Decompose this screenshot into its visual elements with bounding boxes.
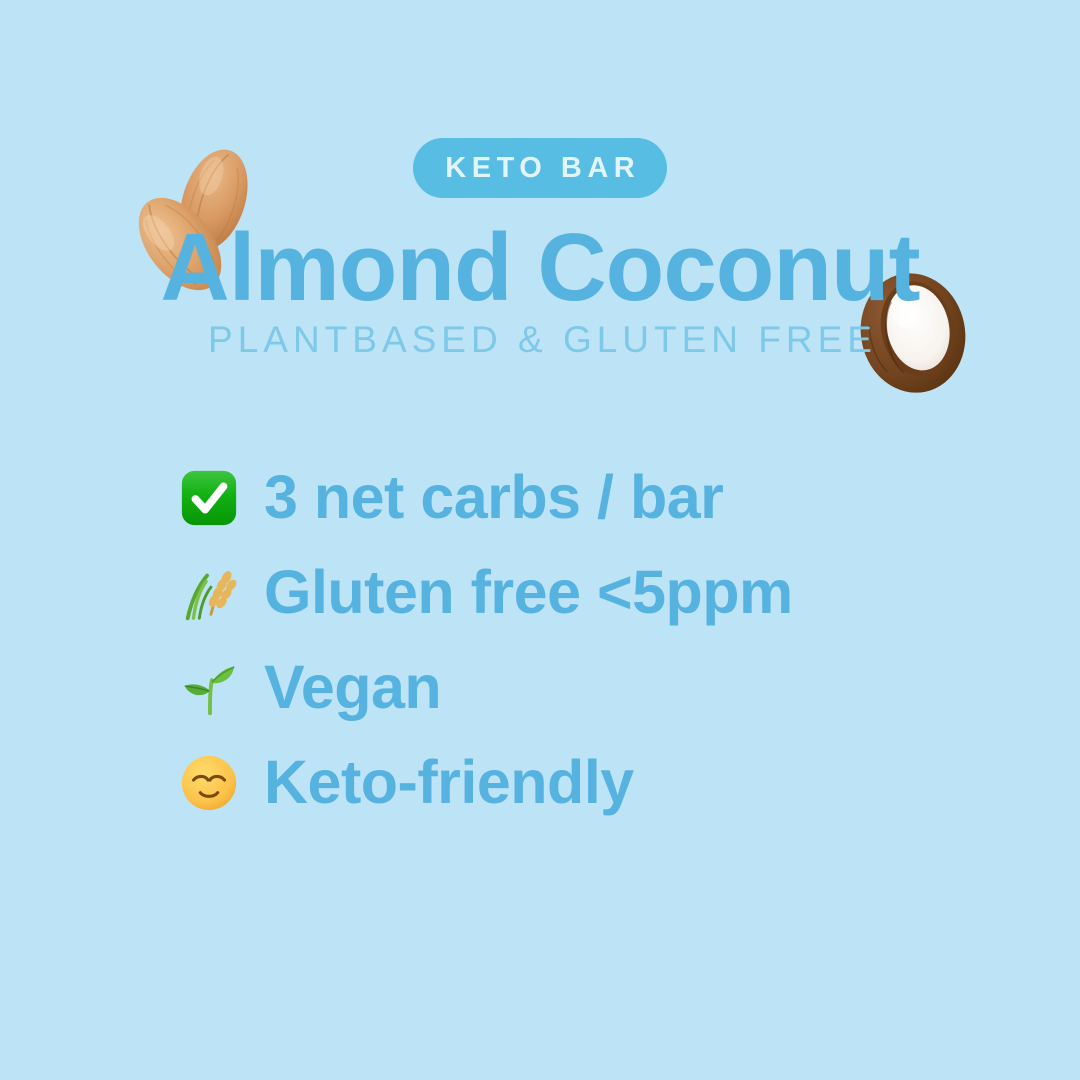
list-item-label: Gluten free <5ppm: [264, 562, 793, 623]
relieved-face-emoji: [178, 752, 264, 814]
sheaf-of-rice-emoji: [178, 562, 264, 624]
badge-label: KETO BAR: [440, 154, 640, 183]
list-item-label: Keto-friendly: [264, 752, 634, 813]
check-mark-button-emoji: [178, 467, 264, 529]
list-item: Keto-friendly: [178, 735, 998, 830]
poster-header: KETO BAR Almond Coconut PLANTBASED & GLU…: [0, 0, 1080, 420]
list-item-label: Vegan: [264, 657, 441, 718]
list-item: Vegan: [178, 640, 998, 735]
product-poster: KETO BAR Almond Coconut PLANTBASED & GLU…: [0, 0, 1080, 1080]
feature-list: 3 net carbs / bar: [178, 450, 998, 830]
list-item: 3 net carbs / bar: [178, 450, 998, 545]
list-item: Gluten free <5ppm: [178, 545, 998, 640]
keto-bar-badge: KETO BAR: [413, 138, 667, 198]
seedling-emoji: [178, 657, 264, 719]
product-subtitle: PLANTBASED & GLUTEN FREE: [0, 318, 1080, 362]
product-title: Almond Coconut: [0, 218, 1080, 319]
list-item-label: 3 net carbs / bar: [264, 467, 723, 528]
